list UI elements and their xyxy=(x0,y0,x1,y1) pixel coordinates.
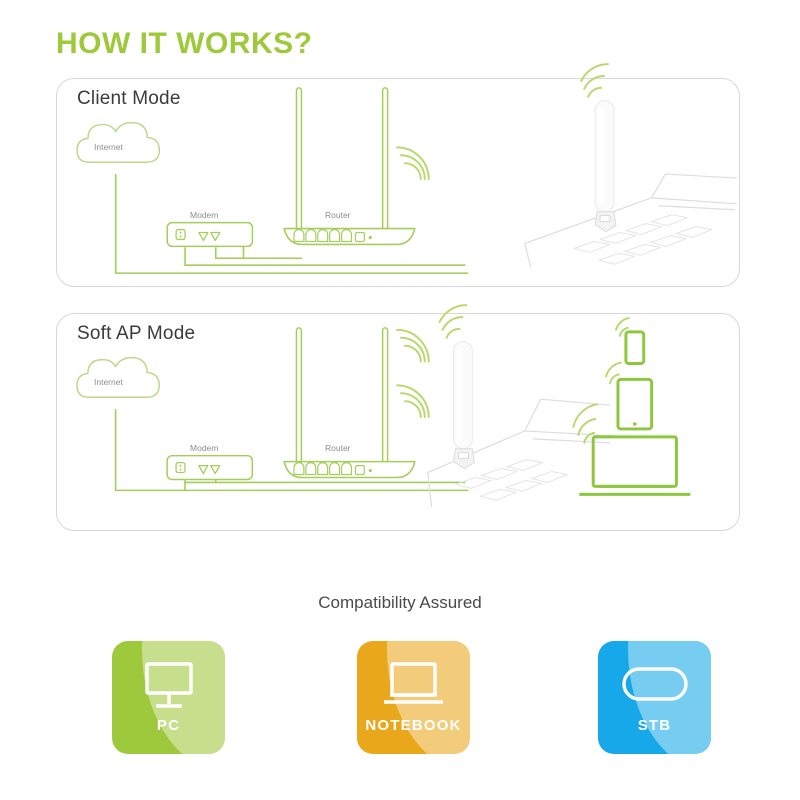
router-wifi-signal-icon xyxy=(397,147,429,179)
page-title: HOW IT WORKS? xyxy=(56,27,312,61)
router-icon xyxy=(284,328,415,478)
router-label: Router xyxy=(325,443,351,453)
laptop-wifi-signal-icon xyxy=(573,404,597,443)
tablet-wifi-signal-icon xyxy=(606,363,621,384)
compat-card-pc[interactable]: PC xyxy=(112,641,225,754)
adapter-wifi-signal-icon xyxy=(581,64,608,97)
internet-label: Internet xyxy=(94,142,123,152)
smartphone-wifi-signal-icon xyxy=(616,318,629,336)
laptop-outline-icon xyxy=(428,399,614,507)
usb-wifi-adapter-icon xyxy=(595,101,616,232)
panel-title-soft-ap-mode: Soft AP Mode xyxy=(77,323,195,345)
smartphone-icon xyxy=(626,332,644,364)
compat-card-notebook[interactable]: NOTEBOOK xyxy=(357,641,470,754)
poster-root: HOW IT WORKS? Client Mode xyxy=(0,0,800,800)
client-mode-diagram xyxy=(57,79,739,286)
compatibility-heading: Compatibility Assured xyxy=(0,593,800,613)
compat-card-caption: NOTEBOOK xyxy=(357,717,470,734)
desktop-monitor-icon xyxy=(112,657,225,715)
modem-icon xyxy=(167,223,252,247)
router-icon xyxy=(284,88,415,244)
green-laptop-icon xyxy=(579,437,690,494)
panel-soft-ap-mode: Soft AP Mode xyxy=(56,313,740,531)
modem-label: Modem xyxy=(190,210,218,220)
compat-card-stb[interactable]: STB xyxy=(598,641,711,754)
laptop-outline-icon xyxy=(525,174,737,267)
adapter-wifi-signal-icon xyxy=(440,305,467,338)
router-label: Router xyxy=(325,210,351,220)
tablet-icon xyxy=(618,379,652,429)
laptop-icon xyxy=(357,657,470,715)
compat-card-caption: STB xyxy=(598,717,711,734)
panel-client-mode: Client Mode xyxy=(56,78,740,287)
usb-wifi-adapter-icon xyxy=(453,342,474,469)
internet-label: Internet xyxy=(94,377,123,387)
tablet-home-button-icon xyxy=(633,422,637,426)
modem-label: Modem xyxy=(190,443,218,453)
set-top-box-icon xyxy=(598,657,711,715)
router-wifi-signal-icon xyxy=(397,330,429,417)
panel-title-client-mode: Client Mode xyxy=(77,88,181,110)
compat-card-caption: PC xyxy=(112,717,225,734)
soft-ap-mode-diagram xyxy=(57,314,739,530)
modem-icon xyxy=(167,456,252,480)
